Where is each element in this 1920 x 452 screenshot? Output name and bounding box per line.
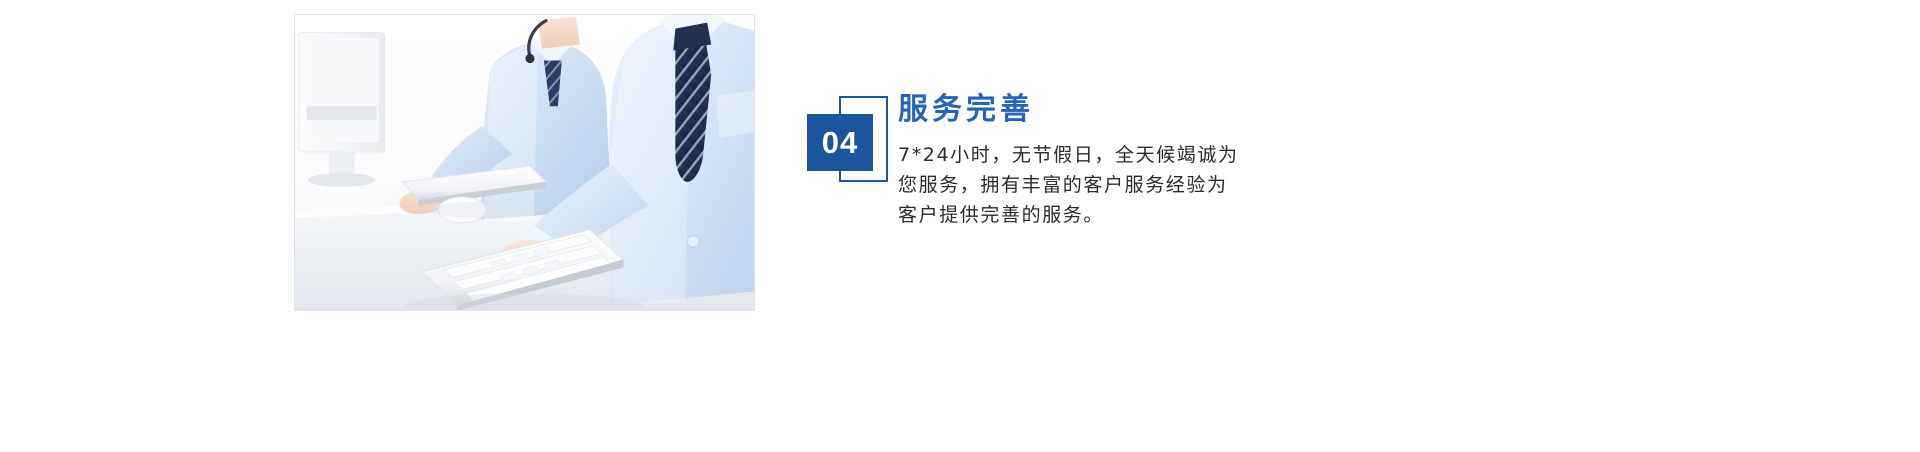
body-line-2: 您服务，拥有丰富的客户服务经验为 xyxy=(898,170,1318,200)
section-photo xyxy=(294,14,755,311)
body-line-3: 客户提供完善的服务。 xyxy=(898,200,1318,230)
section-content: 04 服务完善 7*24小时，无节假日，全天候竭诚为 您服务，拥有丰富的客户服务… xyxy=(806,90,1506,290)
badge-number: 04 xyxy=(807,114,873,171)
call-center-photo-illustration xyxy=(295,15,754,310)
text-column: 服务完善 7*24小时，无节假日，全天候竭诚为 您服务，拥有丰富的客户服务经验为… xyxy=(898,90,1318,230)
section-headline: 服务完善 xyxy=(898,90,1318,130)
step-badge: 04 xyxy=(806,96,890,184)
body-line-1: 7*24小时，无节假日，全天候竭诚为 xyxy=(898,140,1318,170)
promo-section: 04 服务完善 7*24小时，无节假日，全天候竭诚为 您服务，拥有丰富的客户服务… xyxy=(0,0,1920,452)
